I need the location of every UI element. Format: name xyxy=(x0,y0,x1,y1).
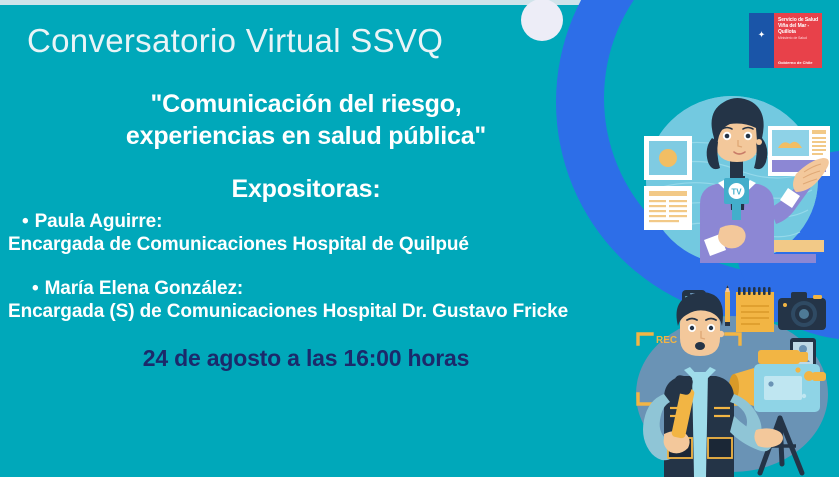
speaker-1-name-row: •Paula Aguirre: xyxy=(0,211,612,233)
logo-org-name: Servicio de Salud Viña del Mar - Quillot… xyxy=(778,17,819,35)
subtitle-line-1: "Comunicación del riesgo, xyxy=(28,88,584,120)
speaker-2-name: María Elena González: xyxy=(45,278,244,299)
coat-of-arms-icon: ✦ xyxy=(758,31,766,40)
logo-coat-of-arms-panel: ✦ xyxy=(749,13,774,68)
poster-canvas: ✦ Servicio de Salud Viña del Mar - Quill… xyxy=(0,0,839,477)
lavender-circle-decoration xyxy=(521,0,563,41)
event-datetime: 24 de agosto a las 16:00 horas xyxy=(0,345,612,372)
speaker-entry-1: •Paula Aguirre: Encargada de Comunicacio… xyxy=(0,211,612,256)
speakers-heading: Expositoras: xyxy=(0,175,612,204)
ssvq-chile-logo: ✦ Servicio de Salud Viña del Mar - Quill… xyxy=(749,13,822,68)
poster-subtitle: "Comunicación del riesgo, experiencias e… xyxy=(0,88,612,152)
illustration-man-reporter-camera: REC xyxy=(620,268,839,477)
speaker-2-name-row: •María Elena González: xyxy=(0,278,612,300)
logo-ministry: Ministerio de Salud xyxy=(778,37,819,41)
speaker-1-role: Encargada de Comunicaciones Hospital de … xyxy=(0,233,612,256)
subtitle-line-2: experiencias en salud pública" xyxy=(28,120,584,152)
illustration-woman-tv-reporter: TV xyxy=(620,88,839,263)
poster-text-column: "Comunicación del riesgo, experiencias e… xyxy=(0,88,612,372)
speaker-2-role: Encargada (S) de Comunicaciones Hospital… xyxy=(0,300,612,323)
logo-government: Gobierno de Chile xyxy=(778,60,812,65)
speaker-1-name: Paula Aguirre: xyxy=(35,211,163,232)
speaker-entry-2: •María Elena González: Encargada (S) de … xyxy=(0,278,612,323)
poster-title: Conversatorio Virtual SSVQ xyxy=(27,22,443,60)
logo-text-panel: Servicio de Salud Viña del Mar - Quillot… xyxy=(774,13,822,68)
bullet-icon: • xyxy=(22,211,29,232)
bullet-icon: • xyxy=(32,278,39,299)
rec-label: REC xyxy=(656,335,677,346)
svg-text:TV: TV xyxy=(731,188,742,197)
